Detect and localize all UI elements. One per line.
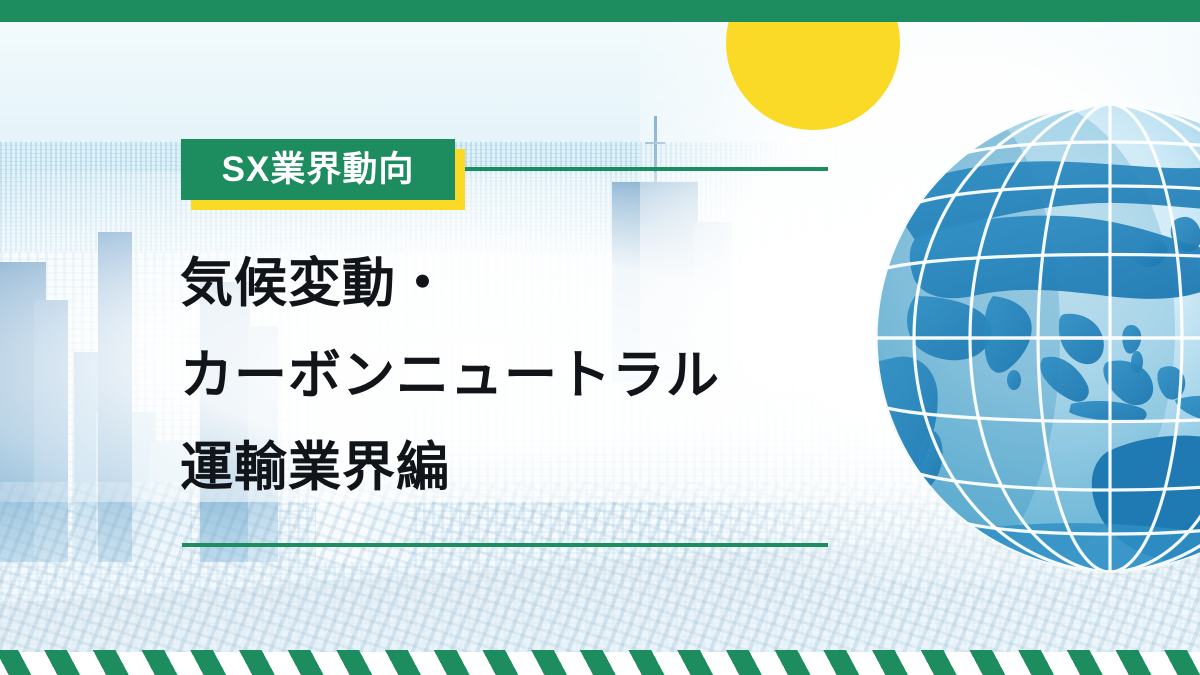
top-green-bar	[0, 0, 1200, 22]
slide-content: SX業界動向 気候変動・ カーボンニュートラル 運輸業界編	[0, 0, 1200, 675]
category-badge: SX業界動向	[181, 139, 455, 200]
bottom-stripe-band	[0, 650, 1200, 675]
divider-bottom	[182, 543, 828, 547]
bottom-stripe-pattern	[0, 650, 1200, 675]
title-line-2: カーボンニュートラル	[180, 330, 840, 422]
page-title: 気候変動・ カーボンニュートラル 運輸業界編	[180, 238, 840, 514]
title-line-3: 運輸業界編	[180, 422, 840, 514]
slide-canvas: SX業界動向 気候変動・ カーボンニュートラル 運輸業界編	[0, 0, 1200, 675]
badge-green-box: SX業界動向	[181, 139, 455, 200]
title-line-1: 気候変動・	[180, 238, 840, 330]
badge-label: SX業界動向	[222, 152, 415, 187]
